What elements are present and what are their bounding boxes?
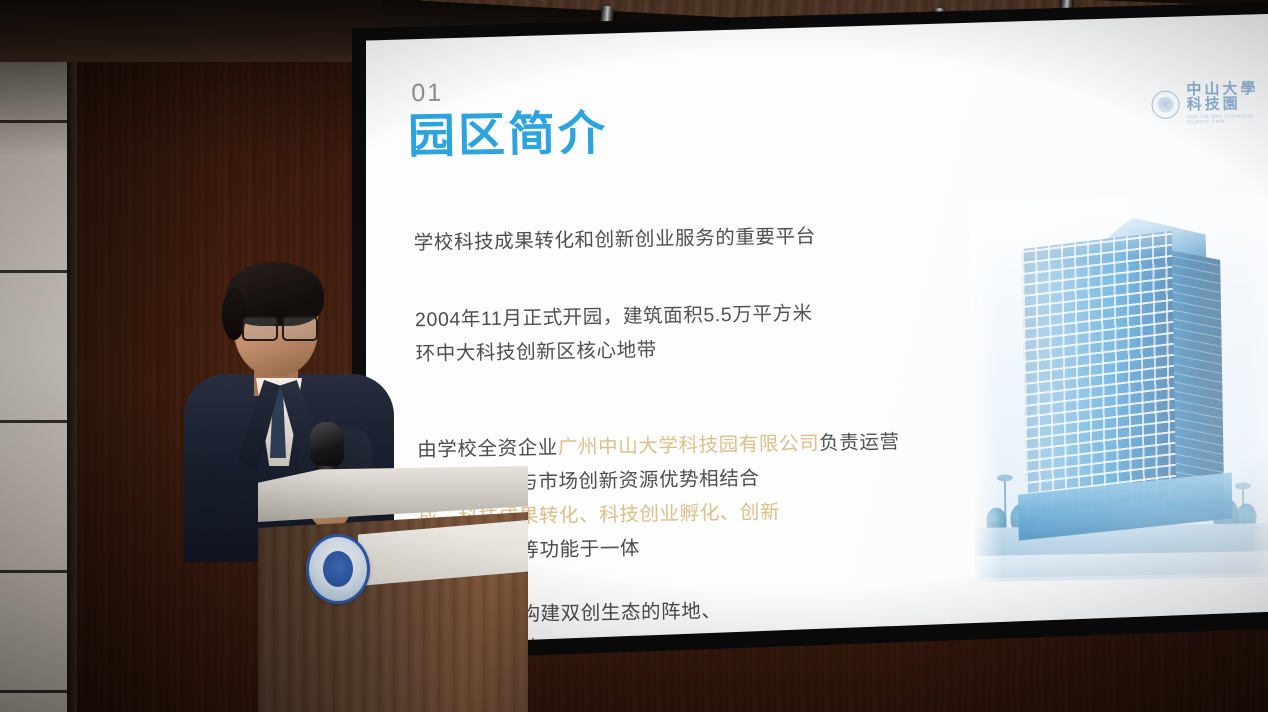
lectern-white-face	[358, 520, 528, 586]
slide-line: 学校科技成果转化和创新创业服务的重要平台	[414, 220, 817, 261]
microphone-icon	[310, 422, 344, 466]
lectern-front-panel	[258, 512, 528, 712]
lectern	[258, 466, 528, 712]
eyeglasses-icon	[242, 316, 320, 338]
seal-icon	[1151, 90, 1179, 118]
science-park-tower-rendering	[969, 195, 1268, 582]
slide-line: 环中大科技创新区核心地带	[415, 331, 813, 372]
logo-name-en: Sun Yat-Sen University Science Park	[1187, 114, 1268, 126]
wall-corner-edge	[67, 0, 77, 712]
slide-paragraph-1: 学校科技成果转化和创新创业服务的重要平台	[414, 220, 817, 261]
logo-name-cn: 中山大學科技園	[1186, 81, 1268, 112]
slide-text-run: 负责运营	[819, 431, 900, 454]
slide-text-run-highlighted: 广州中山大学科技园有限公司	[558, 433, 820, 459]
slide-text-run: 由学校全资企业	[417, 437, 558, 461]
slide-text-run: 等功能于一体	[519, 538, 640, 562]
presentation-photo-scene: 01 园区简介 中山大學科技園 Sun Yat-Sen University S…	[0, 0, 1268, 712]
left-wall-panel	[0, 0, 72, 712]
slide-line: 2004年11月正式开园，建筑面积5.5万平方米	[415, 297, 813, 338]
slide-paragraph-2: 2004年11月正式开园，建筑面积5.5万平方米 环中大科技创新区核心地带	[415, 297, 814, 372]
lectern-top-surface	[258, 466, 528, 522]
slide-title: 园区简介	[408, 106, 609, 163]
university-seal-icon	[306, 534, 370, 604]
university-science-park-logo: 中山大學科技園 Sun Yat-Sen University Science P…	[1151, 81, 1268, 126]
slide-section-number: 01	[411, 81, 443, 107]
